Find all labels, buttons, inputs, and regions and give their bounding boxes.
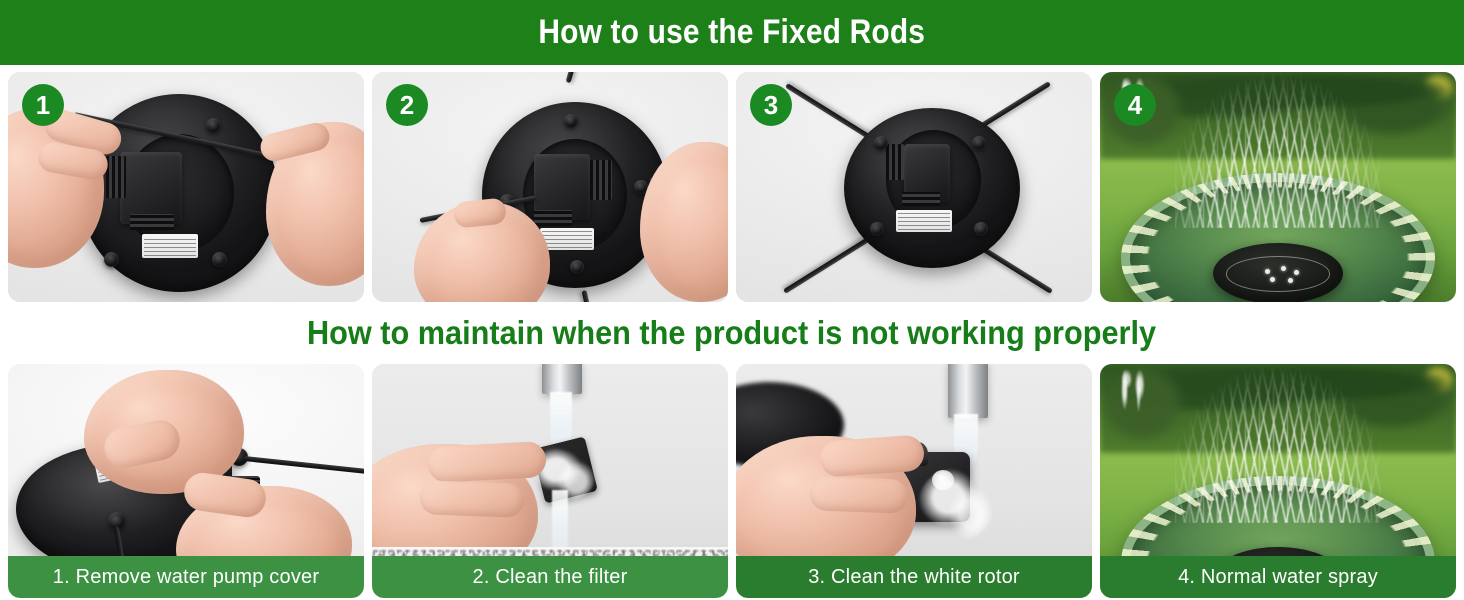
maintenance-panel-1: 1. Remove water pump cover	[8, 364, 364, 598]
pump-vent	[534, 210, 572, 226]
caption-bar-4: 4. Normal water spray	[1100, 556, 1456, 598]
screw-hole-top	[564, 114, 578, 128]
caption-text-1: 1. Remove water pump cover	[53, 566, 319, 589]
step-badge-3: 3	[750, 84, 792, 126]
product-label	[896, 210, 952, 232]
caption-text-2: 2. Clean the filter	[473, 566, 628, 589]
step-panel-3: 3	[736, 72, 1092, 302]
screw-hole-lower-left	[870, 222, 884, 236]
maintenance-panel-4: 4. Normal water spray	[1100, 364, 1456, 598]
nozzle-dot	[1294, 270, 1299, 275]
maintenance-steps-row: 1. Remove water pump cover 2. C	[0, 364, 1464, 598]
index-finger	[819, 434, 925, 477]
product-label	[540, 228, 594, 250]
fixed-rods-steps-row: 1	[0, 72, 1464, 302]
screw-hole-bottom-left	[104, 252, 119, 267]
nozzle-dot	[1281, 266, 1286, 271]
infographic-page: How to use the Fixed Rods	[0, 0, 1464, 600]
middle-finger	[809, 476, 908, 513]
water-droplets	[1121, 369, 1434, 523]
step-panel-1: 1	[8, 72, 364, 302]
screw-hole-upper-right	[972, 136, 986, 150]
caption-bar-1: 1. Remove water pump cover	[8, 556, 364, 598]
middle-finger	[419, 480, 524, 518]
pump-base-disc	[844, 108, 1020, 268]
power-cable-right	[244, 456, 364, 477]
caption-bar-3: 3. Clean the white rotor	[736, 556, 1092, 598]
caption-bar-2: 2. Clean the filter	[372, 556, 728, 598]
step-panel-2: 2	[372, 72, 728, 302]
water-splash	[918, 468, 994, 542]
screw-hole-top-right	[206, 118, 221, 133]
fixed-rod-top	[566, 72, 601, 83]
maintenance-heading-text: How to maintain when the product is not …	[307, 314, 1156, 352]
fountain-ring	[1226, 256, 1330, 291]
faucet-spout	[948, 364, 988, 418]
screw-hole-lower-right	[974, 222, 988, 236]
caption-text-4: 4. Normal water spray	[1178, 566, 1378, 589]
water-droplets	[1121, 77, 1434, 229]
fixed-rod-lower-left	[783, 232, 877, 293]
pump-grille	[886, 144, 904, 180]
nozzle-dot	[1265, 269, 1270, 274]
pump-vent	[130, 214, 174, 230]
pump-grille	[590, 160, 612, 200]
maintenance-panel-3: 3. Clean the white rotor	[736, 364, 1092, 598]
caption-text-3: 3. Clean the white rotor	[808, 566, 1020, 589]
maintenance-panel-2: 2. Clean the filter	[372, 364, 728, 598]
index-finger	[427, 441, 547, 483]
solar-fountain-panel	[1213, 243, 1343, 302]
maintenance-heading: How to maintain when the product is not …	[0, 305, 1464, 360]
screw-hole-bottom-right	[212, 252, 227, 267]
page-title: How to use the Fixed Rods	[539, 13, 926, 52]
header-banner: How to use the Fixed Rods	[0, 0, 1464, 65]
step-badge-1: 1	[22, 84, 64, 126]
screw-hole-upper-left	[874, 136, 888, 150]
product-label	[142, 234, 198, 258]
fixed-rod-bottom	[582, 290, 604, 302]
screw-hole-bottom	[570, 260, 584, 274]
step-badge-4: 4	[1114, 84, 1156, 126]
step-panel-4: 4	[1100, 72, 1456, 302]
pump-vent	[902, 192, 940, 206]
pump-grille	[106, 156, 126, 198]
step-badge-2: 2	[386, 84, 428, 126]
faucet-spout	[542, 364, 582, 394]
